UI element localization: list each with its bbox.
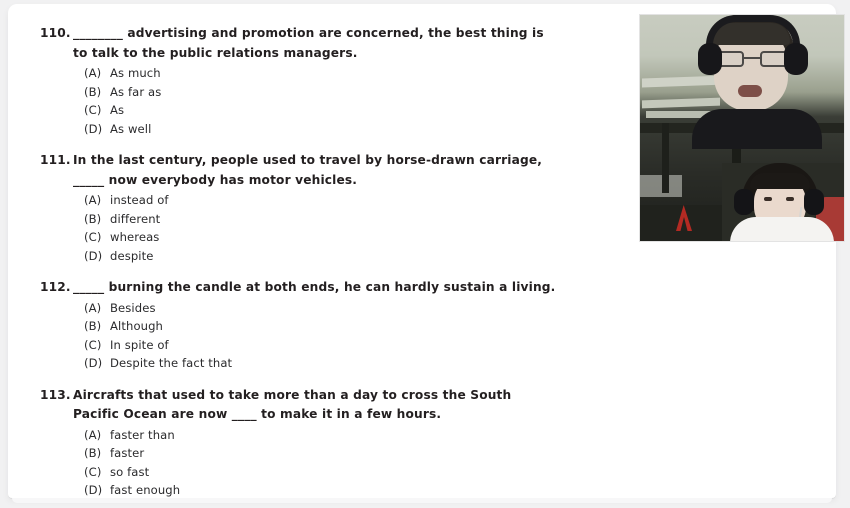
option-letter: (D) [84, 481, 110, 500]
option-letter: (C) [84, 101, 110, 120]
question-item: 112. _____ burning the candle at both en… [40, 278, 600, 373]
student-webcam-feed[interactable] [722, 163, 845, 242]
option-label: different [110, 210, 600, 229]
question-number: 113. [40, 386, 73, 406]
headphone-band-shape [706, 15, 800, 45]
screen-root: 110. ________ advertising and promotion … [0, 0, 850, 508]
pole-shape [662, 123, 669, 193]
option-label: In spite of [110, 336, 600, 355]
option-item[interactable]: (D) despite [84, 247, 600, 266]
option-item[interactable]: (D) As well [84, 120, 600, 139]
option-label: As [110, 101, 600, 120]
question-item: 110. ________ advertising and promotion … [40, 24, 600, 138]
torso-shape [692, 109, 822, 149]
option-label: despite [110, 247, 600, 266]
option-label: As much [110, 64, 600, 83]
option-list: (A) faster than (B) faster (C) so fast (… [40, 426, 600, 500]
option-letter: (C) [84, 336, 110, 355]
headphone-earcup-left [734, 189, 754, 215]
option-item[interactable]: (D) fast enough [84, 481, 600, 500]
option-label: Despite the fact that [110, 354, 600, 373]
question-text-line-2: to talk to the public relations managers… [73, 44, 600, 64]
option-list: (A) instead of (B) different (C) whereas… [40, 191, 600, 265]
option-letter: (C) [84, 228, 110, 247]
option-list: (A) Besides (B) Although (C) In spite of… [40, 299, 600, 373]
option-letter: (A) [84, 299, 110, 318]
option-letter: (D) [84, 354, 110, 373]
option-item[interactable]: (C) whereas [84, 228, 600, 247]
option-item[interactable]: (A) faster than [84, 426, 600, 445]
headphone-earcup-right [784, 43, 808, 75]
option-item[interactable]: (A) Besides [84, 299, 600, 318]
option-letter: (A) [84, 191, 110, 210]
question-line: Pacific Ocean are now ____ to make it in… [40, 405, 600, 425]
option-item[interactable]: (A) instead of [84, 191, 600, 210]
question-text-line-1: ________ advertising and promotion are c… [73, 24, 600, 44]
wall-light-shape [640, 175, 682, 197]
option-label: so fast [110, 463, 600, 482]
option-item[interactable]: (C) so fast [84, 463, 600, 482]
option-letter: (B) [84, 444, 110, 463]
option-list: (A) As much (B) As far as (C) As (D) As … [40, 64, 600, 138]
question-text-line-2: _____ now everybody has motor vehicles. [73, 171, 600, 191]
option-letter: (D) [84, 247, 110, 266]
option-letter: (B) [84, 83, 110, 102]
question-line: 110. ________ advertising and promotion … [40, 24, 600, 44]
option-label: faster [110, 444, 600, 463]
option-label: whereas [110, 228, 600, 247]
instructor-person [692, 14, 816, 139]
bangs-shape [750, 173, 810, 189]
option-letter: (B) [84, 317, 110, 336]
option-item[interactable]: (A) As much [84, 64, 600, 83]
option-letter: (A) [84, 426, 110, 445]
option-label: instead of [110, 191, 600, 210]
option-item[interactable]: (C) As [84, 101, 600, 120]
glasses-icon [716, 51, 788, 67]
question-text-line-1: In the last century, people used to trav… [73, 151, 600, 171]
headphone-earcup-right [804, 189, 824, 215]
glasses-bridge [744, 57, 760, 59]
option-label: As well [110, 120, 600, 139]
option-item[interactable]: (B) faster [84, 444, 600, 463]
option-letter: (B) [84, 210, 110, 229]
question-line: to talk to the public relations managers… [40, 44, 600, 64]
question-number: 111. [40, 151, 73, 171]
option-letter: (A) [84, 64, 110, 83]
option-letter: (D) [84, 120, 110, 139]
question-line: 112. _____ burning the candle at both en… [40, 278, 600, 298]
question-number: 110. [40, 24, 73, 44]
eye-left-shape [764, 197, 772, 201]
question-item: 111. In the last century, people used to… [40, 151, 600, 265]
option-item[interactable]: (B) As far as [84, 83, 600, 102]
option-letter: (C) [84, 463, 110, 482]
option-item[interactable]: (B) different [84, 210, 600, 229]
question-line: _____ now everybody has motor vehicles. [40, 171, 600, 191]
question-number: 112. [40, 278, 73, 298]
option-label: faster than [110, 426, 600, 445]
video-panel[interactable] [639, 14, 845, 242]
quiz-list: 110. ________ advertising and promotion … [40, 24, 600, 508]
question-text-line-2: Pacific Ocean are now ____ to make it in… [73, 405, 600, 425]
option-item[interactable]: (C) In spite of [84, 336, 600, 355]
content-card: 110. ________ advertising and promotion … [8, 4, 836, 498]
mouth-shape [738, 85, 762, 97]
question-text-line-1: _____ burning the candle at both ends, h… [73, 278, 600, 298]
option-label: Although [110, 317, 600, 336]
question-line: 113. Aircrafts that used to take more th… [40, 386, 600, 406]
eye-right-shape [786, 197, 794, 201]
option-label: fast enough [110, 481, 600, 500]
question-item: 113. Aircrafts that used to take more th… [40, 386, 600, 500]
option-item[interactable]: (D) Despite the fact that [84, 354, 600, 373]
headphone-earcup-left [698, 43, 722, 75]
option-item[interactable]: (B) Although [84, 317, 600, 336]
option-label: Besides [110, 299, 600, 318]
question-text-line-1: Aircrafts that used to take more than a … [73, 386, 600, 406]
shirt-shape [730, 217, 834, 242]
question-line: 111. In the last century, people used to… [40, 151, 600, 171]
option-label: As far as [110, 83, 600, 102]
